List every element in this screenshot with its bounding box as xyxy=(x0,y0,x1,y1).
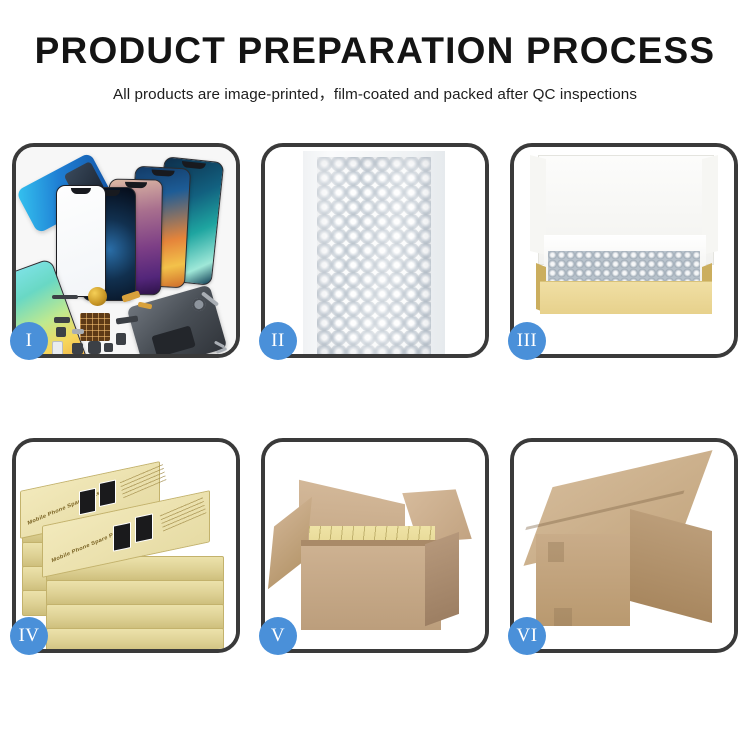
step-panel-5: V xyxy=(261,438,489,653)
step-image-2 xyxy=(265,147,485,354)
product-screen-image xyxy=(99,479,116,507)
step-panel-1: I xyxy=(12,143,240,358)
step-panel-2: II xyxy=(261,143,489,358)
retail-box xyxy=(46,628,224,649)
step-badge-5: V xyxy=(259,617,297,655)
retail-box xyxy=(46,580,224,606)
flex-cable-part xyxy=(52,295,78,299)
screen-protector-glass xyxy=(56,185,106,297)
product-screen-image xyxy=(79,488,96,516)
step-badge-3: III xyxy=(508,322,546,360)
process-steps-grid: I II III xyxy=(12,143,738,653)
retail-box xyxy=(46,604,224,630)
bubble-wrapped-contents xyxy=(548,251,700,285)
camera-lens-icon xyxy=(191,297,207,313)
box-stack: Mobile Phone Spare Parts Mobile Phone Sp… xyxy=(20,460,232,649)
page-title: PRODUCT PREPARATION PROCESS xyxy=(0,32,750,71)
plastic-sheen xyxy=(317,157,431,354)
metal-bracket-part xyxy=(72,329,84,334)
carton-handle-tab xyxy=(554,608,572,626)
step-image-1 xyxy=(16,147,236,354)
step-image-3 xyxy=(514,147,734,354)
step-image-5 xyxy=(265,442,485,649)
carton-right-face xyxy=(630,509,712,623)
battery-part xyxy=(151,325,196,354)
ic-chip-part xyxy=(80,313,110,341)
sim-tray-part xyxy=(52,341,63,354)
carton-front xyxy=(301,546,441,630)
step-panel-4: Mobile Phone Spare Parts Mobile Phone Sp… xyxy=(12,438,240,653)
header: PRODUCT PREPARATION PROCESS All products… xyxy=(0,0,750,104)
step-image-4: Mobile Phone Spare Parts Mobile Phone Sp… xyxy=(16,442,236,649)
carton-side xyxy=(425,532,459,626)
carton-handle-tab xyxy=(548,542,564,562)
step-badge-2: II xyxy=(259,322,297,360)
step-badge-4: IV xyxy=(10,617,48,655)
small-component-part xyxy=(54,317,70,323)
speaker-part xyxy=(116,333,126,345)
step-panel-3: III xyxy=(510,143,738,358)
product-screen-image xyxy=(113,522,131,552)
step-image-6 xyxy=(514,442,734,649)
phone-notch xyxy=(71,188,91,194)
taptic-engine-part xyxy=(88,341,101,354)
small-component-part xyxy=(56,327,66,337)
phone-notch xyxy=(151,169,174,176)
page-subtitle: All products are image-printed，film-coat… xyxy=(0,82,750,104)
product-preparation-infographic: PRODUCT PREPARATION PROCESS All products… xyxy=(0,0,750,750)
vibration-motor-part xyxy=(88,287,107,306)
product-screen-image xyxy=(135,513,153,543)
small-component-part xyxy=(72,343,83,354)
step-panel-6: VI xyxy=(510,438,738,653)
small-component-part xyxy=(104,343,113,352)
step-badge-1: I xyxy=(10,322,48,360)
box-front-panel xyxy=(540,281,712,314)
step-badge-6: VI xyxy=(508,617,546,655)
